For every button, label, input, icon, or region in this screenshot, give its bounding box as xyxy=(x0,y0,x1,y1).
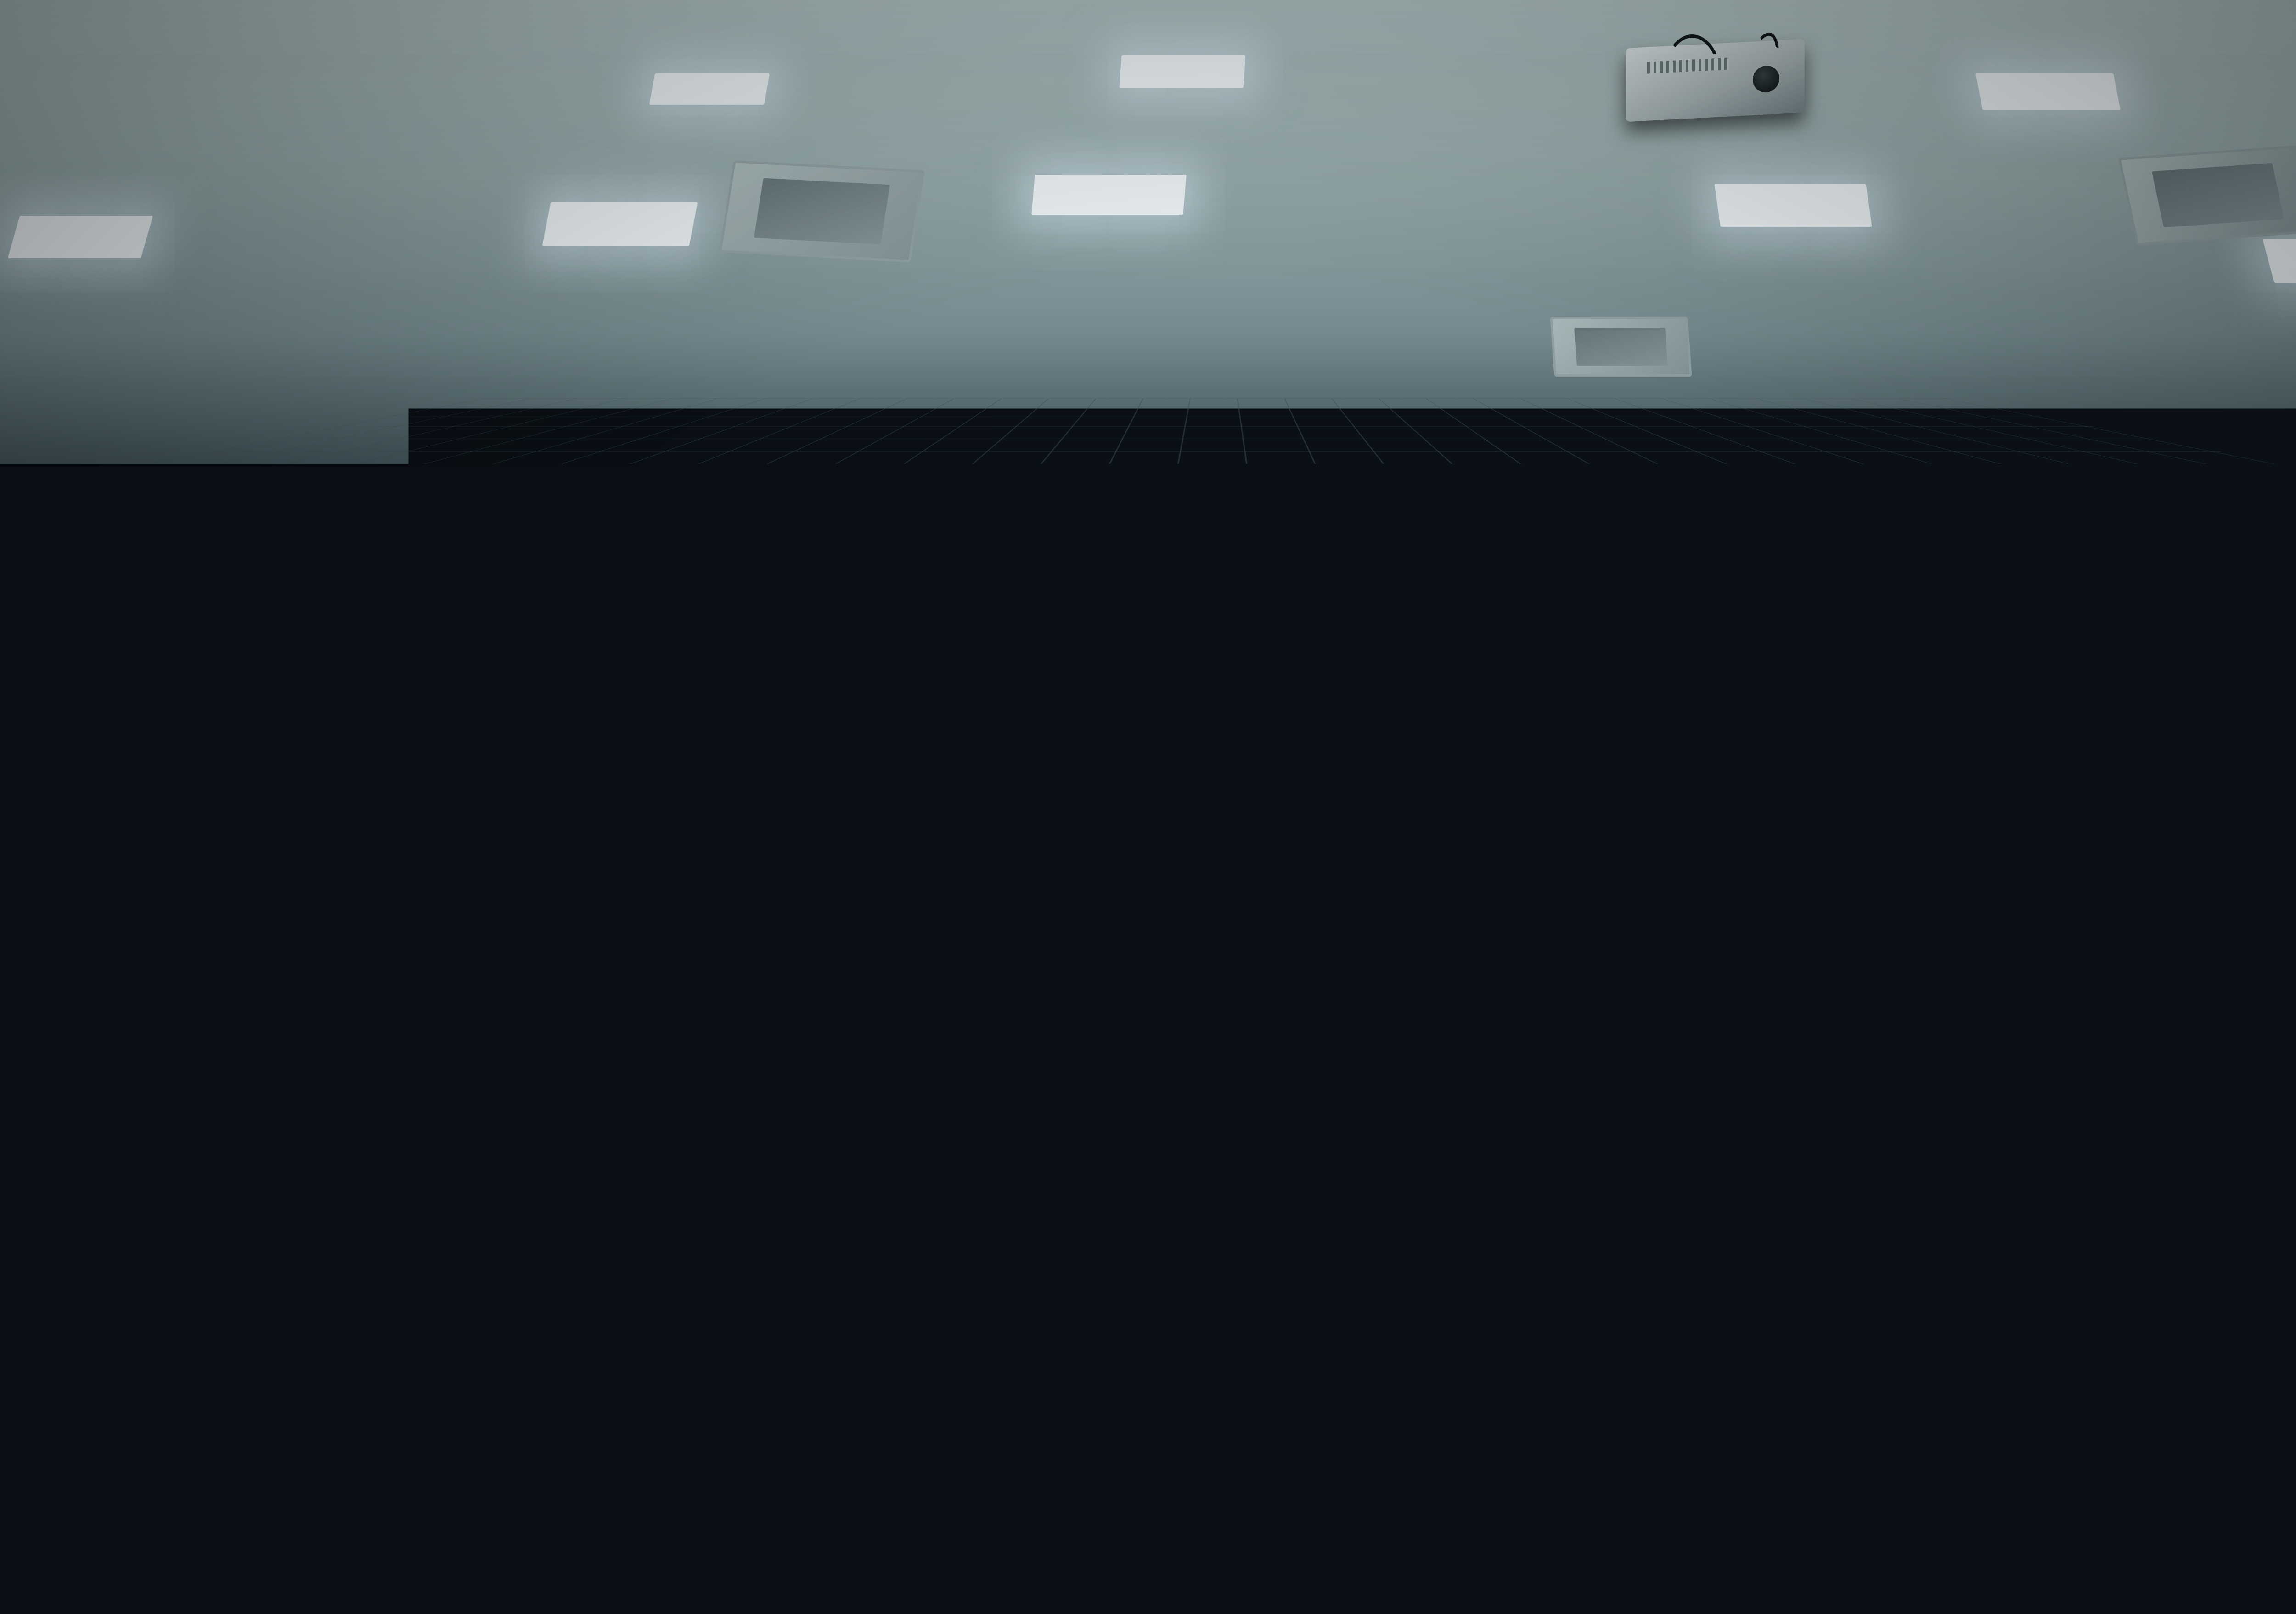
seat-row-label: 一排 xyxy=(466,871,475,888)
slide-bullet: 2012年启动十二五质量工程 xyxy=(1167,575,1666,609)
seat-number: 9 xyxy=(1794,965,1804,986)
emblem-outer-text: JILIN UNIVERSITY · CHINA xyxy=(972,794,1018,803)
audience-head xyxy=(1332,912,1428,1017)
clock-numeral: 9 xyxy=(1967,467,1972,477)
seat-number: 16 xyxy=(489,870,506,888)
seat-headband xyxy=(1727,906,1844,940)
audience-member xyxy=(1304,912,1451,1128)
seat-row-label: 二排 xyxy=(895,960,906,980)
seat-number: 15 xyxy=(217,1070,241,1095)
seat-label: 二排 9 xyxy=(1727,965,1844,986)
exit-sign-label-cn: 安全出口 xyxy=(703,478,754,505)
wall-speaker-left: SONY xyxy=(439,439,503,553)
seat-headband xyxy=(406,904,521,938)
audience-member xyxy=(1258,801,1341,884)
seat[interactable]: 二排 12 xyxy=(861,901,976,1014)
seat-label: 一排 16 xyxy=(436,870,535,888)
seat-row-label: 二排 xyxy=(137,965,148,985)
seat[interactable]: 一排 18 xyxy=(174,822,273,919)
seat-label: 一排 13 xyxy=(829,868,928,886)
seat-piping xyxy=(1201,1040,1321,1123)
seat[interactable]: 三排 8 xyxy=(2195,994,2296,1128)
undo-icon[interactable]: ↶ xyxy=(1198,472,1205,485)
seat[interactable]: 一排 16 xyxy=(436,820,535,917)
desktop-tower xyxy=(1068,710,1118,783)
seat-number: 7 xyxy=(2097,967,2107,988)
seat-headband xyxy=(634,1488,1047,1543)
bottle-cap xyxy=(841,991,857,1000)
speaker-brand-label: SONY xyxy=(439,542,503,549)
seat-piping xyxy=(1341,1162,1506,1275)
clock-numeral: 7 xyxy=(1976,483,1981,493)
audience-head xyxy=(308,960,400,1059)
seat-headband xyxy=(829,818,928,847)
seat-row-label: 一排 xyxy=(2126,876,2135,893)
seat-label: 一排 12 xyxy=(960,867,1058,885)
bullet-dot-icon xyxy=(1167,643,1175,651)
seat-row-label: 二排 xyxy=(2234,968,2245,988)
seat-label: 五排 12 xyxy=(409,1337,693,1383)
seat-headband xyxy=(1699,822,1799,852)
seat-row-label: 一排 xyxy=(2257,877,2266,894)
audience-head xyxy=(1265,801,1326,873)
seat-number: 5 xyxy=(2280,876,2289,894)
bullet-text: 普及共享优质课程资源 xyxy=(1185,634,1424,669)
desk-leg xyxy=(1832,1029,1852,1134)
backpack-strap xyxy=(1339,1462,1373,1578)
audience-head xyxy=(716,1020,813,1130)
lcd-monitor[interactable] xyxy=(1148,710,1263,783)
seat-row-label: 一排 xyxy=(989,867,998,885)
seat-row-label: 五排 xyxy=(502,1338,525,1382)
seat-row-label: 三排 xyxy=(2241,1065,2253,1088)
seat[interactable]: 二排 11 xyxy=(1013,900,1127,1013)
seat-piping xyxy=(423,1302,679,1473)
bottle-cap xyxy=(594,580,605,589)
bullet-dot-icon xyxy=(1167,584,1175,592)
lecture-hall-photo: 安全出口 EXIT 安全出口 EXIT 12 1 2 3 4 5 6 7 8 9… xyxy=(0,0,2296,1614)
bottle-label xyxy=(2278,836,2296,852)
seat[interactable] xyxy=(1878,1116,2030,1263)
clock-numeral: 1 xyxy=(1995,451,2000,461)
water-bottle[interactable] xyxy=(1671,827,1694,882)
water-bottle[interactable] xyxy=(578,815,599,867)
seat-label: 三排 9 xyxy=(2016,1061,2151,1086)
door-handle[interactable] xyxy=(2071,721,2075,756)
keyboard[interactable] xyxy=(1272,776,1359,788)
audience-member xyxy=(946,1066,1139,1323)
seat-piping xyxy=(1886,1165,2022,1258)
seat-row-label: 二排 xyxy=(2070,968,2080,988)
seat-row-label: 二排 xyxy=(1918,967,1929,987)
speaker-brand-label: SONY xyxy=(2273,533,2296,540)
audience-head xyxy=(280,801,340,875)
seat-number: 8 xyxy=(1945,966,1955,987)
audience-head xyxy=(1883,801,1941,870)
audience-head xyxy=(983,1066,1107,1203)
ceiling-light-panel xyxy=(1119,55,1245,88)
seat-row-label: 一排 xyxy=(858,868,867,886)
seat-headband xyxy=(709,902,824,936)
wall-mounted-fan xyxy=(2158,556,2223,611)
seat-row-label: 二排 xyxy=(1767,966,1777,986)
seat-number: 8 xyxy=(2272,1064,2284,1089)
optical-drive-bay[interactable] xyxy=(1076,717,1109,723)
ac-cassette-vent xyxy=(2118,145,2296,245)
seat-row-label: 一排 xyxy=(1733,873,1742,891)
audience-head xyxy=(23,1033,133,1157)
av-control-panel[interactable] xyxy=(2264,604,2296,703)
clock-numeral: 6 xyxy=(1986,485,1991,496)
seat-label: 13 xyxy=(0,1322,211,1367)
bottle-label xyxy=(1435,1022,1463,1043)
window-curtain-left xyxy=(0,386,152,790)
seat-number: 11 xyxy=(1074,959,1093,979)
projector-cable xyxy=(1662,34,1722,80)
seat-label: 二排 11 xyxy=(1013,959,1127,979)
seat-label: 二排 8 xyxy=(1878,966,1995,987)
seat-headband xyxy=(1961,824,2061,853)
seat-label: 一排 14 xyxy=(698,869,797,886)
water-bottle[interactable] xyxy=(1809,822,1830,875)
seat-number: 13 xyxy=(56,1322,100,1367)
pause-icon[interactable] xyxy=(1140,475,1147,482)
seat-row-label: 一排 xyxy=(1864,874,1873,892)
audience-member xyxy=(1878,801,1956,880)
display-cabinet[interactable] xyxy=(363,611,647,841)
seat-row-label: 三排 xyxy=(186,1071,198,1094)
seat-headband xyxy=(1878,1116,2030,1160)
lectern-top xyxy=(917,701,1066,728)
seat-headband xyxy=(174,822,273,851)
ceiling-light-panel xyxy=(649,73,770,105)
seat-row-label: 二排 xyxy=(1047,959,1058,979)
seat-label: 二排 12 xyxy=(861,959,976,980)
monitor-stand-base xyxy=(1176,776,1235,784)
ac-cassette-vent xyxy=(719,160,925,262)
seat-label: 一排 5 xyxy=(2223,876,2296,894)
clock-numeral: 5 xyxy=(1995,483,2000,493)
seat-number: 13 xyxy=(770,960,791,981)
seat-row-label: 三排 xyxy=(535,1069,547,1092)
seat[interactable]: 一排 9 xyxy=(1699,822,1799,920)
audience-torso xyxy=(946,1194,1139,1327)
seat-headband xyxy=(2181,909,2296,943)
seat-label: 一排 6 xyxy=(2092,875,2192,893)
slide-title: 2.1 精品资源共享课建设背景 xyxy=(1179,506,1688,564)
seat[interactable]: 一排 14 xyxy=(698,818,797,915)
seat-label: 三排 8 xyxy=(2195,1064,2296,1089)
seat-label: 一排 9 xyxy=(1699,873,1799,891)
ceiling xyxy=(0,0,2296,464)
audience-member xyxy=(271,801,354,880)
seat-headband xyxy=(1019,998,1153,1037)
ceiling-light-panel xyxy=(1714,184,1872,227)
audience-member xyxy=(257,960,450,1208)
seat-headband xyxy=(558,903,673,937)
seat-row-label: 一排 xyxy=(1995,875,2004,892)
wall-clock: 12 1 2 3 4 5 6 7 8 9 10 11 xyxy=(1957,441,2019,503)
seat-row-label: 三排 xyxy=(2062,1062,2074,1085)
seat-headband xyxy=(0,907,96,941)
seat[interactable] xyxy=(0,1451,239,1614)
audience-member-foreground xyxy=(1506,1148,1791,1614)
seat-number: 17 xyxy=(358,871,375,889)
seat-row-label: 一排 xyxy=(727,869,737,886)
seat-row-label: 二排 xyxy=(743,961,754,981)
bullet-dot-icon xyxy=(1167,703,1175,710)
seat-number: 12 xyxy=(1012,867,1030,885)
seat-headband xyxy=(2092,825,2192,854)
door-transom-window xyxy=(658,537,812,622)
seat[interactable] xyxy=(0,907,96,1020)
seat-headband xyxy=(436,820,535,849)
audience-torso xyxy=(1506,1360,1791,1614)
audience-member xyxy=(0,1033,174,1263)
seat[interactable]: 一排 12 xyxy=(960,817,1058,913)
clock-numeral: 11 xyxy=(1974,451,1983,461)
seat[interactable] xyxy=(634,1488,1047,1614)
seat-headband xyxy=(2195,994,2296,1034)
seat[interactable]: 二排 9 xyxy=(1727,906,1844,1021)
bottle-label xyxy=(19,941,44,959)
rehearsal-timer-toolbar[interactable]: ✕ 0:00:33 ↶ 0:02:45 xyxy=(1135,456,1272,489)
seat-row-label: 一排 xyxy=(204,873,213,890)
cabinet-mullion xyxy=(497,615,503,836)
bottle-label xyxy=(1671,852,1694,869)
audience-head xyxy=(1076,797,1134,866)
seat[interactable]: 二排 8 xyxy=(1878,907,1995,1021)
seat-label: 一排 18 xyxy=(174,872,273,890)
seat-headband xyxy=(845,999,978,1038)
ceiling-light-panel xyxy=(542,202,698,246)
status-led-red xyxy=(2292,648,2296,655)
audience-head xyxy=(1557,1148,1754,1378)
seat-headband xyxy=(861,901,976,935)
seat-headband xyxy=(2016,992,2151,1032)
ceiling-shadow xyxy=(0,317,2296,464)
exit-sign-label-cn: 安全出口 xyxy=(2051,486,2101,514)
water-bottle[interactable] xyxy=(19,912,44,975)
seat-number: 11 xyxy=(916,1067,938,1091)
bottle-label xyxy=(2243,839,2263,854)
seat-headband xyxy=(2158,1203,2296,1256)
ceiling-light-panel xyxy=(1975,73,2121,110)
seat-label: 二排 7 xyxy=(2030,967,2147,988)
seat[interactable]: 一排 13 xyxy=(829,818,928,914)
seat-number: 15 xyxy=(619,869,637,887)
seat-piping xyxy=(888,1325,1160,1505)
audience-torso xyxy=(257,1047,450,1213)
water-bottle[interactable] xyxy=(2243,815,2263,866)
seat-headband xyxy=(2030,908,2147,942)
exit-sign-right: 安全出口 EXIT xyxy=(2049,491,2103,521)
seat[interactable]: 二排 13 xyxy=(709,902,824,1015)
panel-button[interactable] xyxy=(2293,661,2296,668)
seat-headband xyxy=(103,906,218,940)
bottle-cap xyxy=(2247,807,2259,816)
audience-torso xyxy=(0,1148,174,1268)
wall-speaker-right: SONY xyxy=(2273,434,2296,544)
cabinet-mullion xyxy=(599,615,605,836)
bottle-label xyxy=(1809,847,1830,863)
bottle-cap xyxy=(1813,814,1827,823)
emblem-year: 1946 xyxy=(972,804,1018,809)
exit-sign-label-en: EXIT xyxy=(715,505,743,517)
seat-label: 一排 15 xyxy=(567,869,666,887)
seat[interactable]: 二排 17 xyxy=(103,906,218,1018)
seat-label: 二排 17 xyxy=(103,964,218,985)
seat-number: 9 xyxy=(2093,1061,2105,1086)
seat-piping xyxy=(654,1549,1026,1614)
seat-piping xyxy=(0,1515,222,1614)
seat-headband xyxy=(1878,907,1995,941)
clock-center-hub xyxy=(1986,469,1991,474)
water-bottle[interactable] xyxy=(492,983,519,1049)
water-bottle[interactable] xyxy=(836,999,861,1063)
seat-headband xyxy=(960,817,1058,846)
seat-row-label: 三排 xyxy=(885,1067,897,1090)
ceiling-light-panel xyxy=(2262,239,2296,283)
seat-number: 6 xyxy=(2149,875,2158,893)
toolbar-titlebar: ✕ xyxy=(1136,457,1272,469)
door-right[interactable] xyxy=(1938,540,2122,834)
water-bottle[interactable] xyxy=(1435,990,1463,1060)
seat-number: 12 xyxy=(556,1337,600,1383)
audience-member xyxy=(505,1139,661,1291)
ceiling-light-panel xyxy=(1031,175,1187,215)
toolbar-body: 0:00:33 ↶ 0:02:45 xyxy=(1136,469,1272,488)
bottle-label xyxy=(492,1013,519,1033)
seat-number: 12 xyxy=(922,959,942,980)
seat-headband xyxy=(698,818,797,847)
seat-number: 15 xyxy=(467,962,488,983)
water-bottle[interactable] xyxy=(590,588,608,632)
door-transom-window xyxy=(1956,544,2103,629)
seat[interactable]: 三排 9 xyxy=(2016,992,2151,1125)
bullet-text: 2012年启动十二五质量工程 xyxy=(1185,575,1484,609)
seat-row-label: 一排 xyxy=(597,870,606,887)
seat-label: 一排 7 xyxy=(1961,875,2061,892)
timer-elapsed: 0:00:33 xyxy=(1154,474,1191,484)
seat-label: 二排 xyxy=(2181,968,2296,988)
bottle-cap xyxy=(24,904,39,913)
seat-number: 14 xyxy=(750,869,768,886)
seat-headband xyxy=(1164,899,1279,933)
laptop[interactable] xyxy=(744,1139,859,1199)
audience-head xyxy=(585,937,677,1061)
window-curtain-left2 xyxy=(138,404,230,772)
seat-number: 18 xyxy=(227,872,244,890)
audience-member xyxy=(1070,797,1148,875)
panel-button[interactable] xyxy=(2293,673,2296,680)
seat[interactable] xyxy=(2158,1203,2296,1378)
exit-sign-left: 安全出口 EXIT xyxy=(702,482,756,513)
seat-number: 9 xyxy=(1756,873,1765,891)
bottle-cap xyxy=(1441,982,1458,991)
clock-numeral: 12 xyxy=(1983,448,1993,458)
monitor-power-led xyxy=(1142,715,1148,721)
seat-number: 13 xyxy=(881,868,899,886)
seat-piping xyxy=(0,1288,198,1450)
seat[interactable] xyxy=(1164,899,1279,1012)
backpack xyxy=(1313,1401,1525,1614)
tower-fan-icon xyxy=(1079,748,1102,772)
seat-piping xyxy=(2167,1261,2296,1371)
water-bottle[interactable] xyxy=(2278,813,2296,863)
presenter-head xyxy=(1075,622,1121,677)
bottle-label xyxy=(836,1028,861,1048)
seat-headband xyxy=(0,1451,239,1509)
mouse[interactable] xyxy=(1249,776,1269,790)
seat-number: 7 xyxy=(2018,875,2027,892)
slide-bullet: 普及共享优质课程资源 xyxy=(1167,634,1666,669)
audience-head xyxy=(523,1139,638,1268)
bottle-cap xyxy=(2281,805,2294,814)
audience-torso xyxy=(1304,1008,1451,1132)
seat-headband xyxy=(1013,900,1127,934)
clock-numeral: 4 xyxy=(2002,476,2007,486)
seat-label: 二排 13 xyxy=(709,960,824,981)
close-icon[interactable]: ✕ xyxy=(1255,458,1263,469)
bottle-label xyxy=(590,608,608,621)
ceiling-light-panel xyxy=(8,216,153,258)
bottle-cap xyxy=(497,975,514,984)
bottle-cap xyxy=(582,807,595,816)
bottle-label xyxy=(578,839,599,855)
chevron-down-icon[interactable] xyxy=(1239,461,1248,465)
timer-total: 0:02:45 xyxy=(1213,474,1249,484)
exit-sign-label-en: EXIT xyxy=(2063,514,2090,525)
audience-member xyxy=(2287,1281,2296,1557)
seat-number: 17 xyxy=(164,964,185,985)
bottle-cap xyxy=(1676,819,1689,828)
audience-torso xyxy=(2287,1337,2296,1557)
